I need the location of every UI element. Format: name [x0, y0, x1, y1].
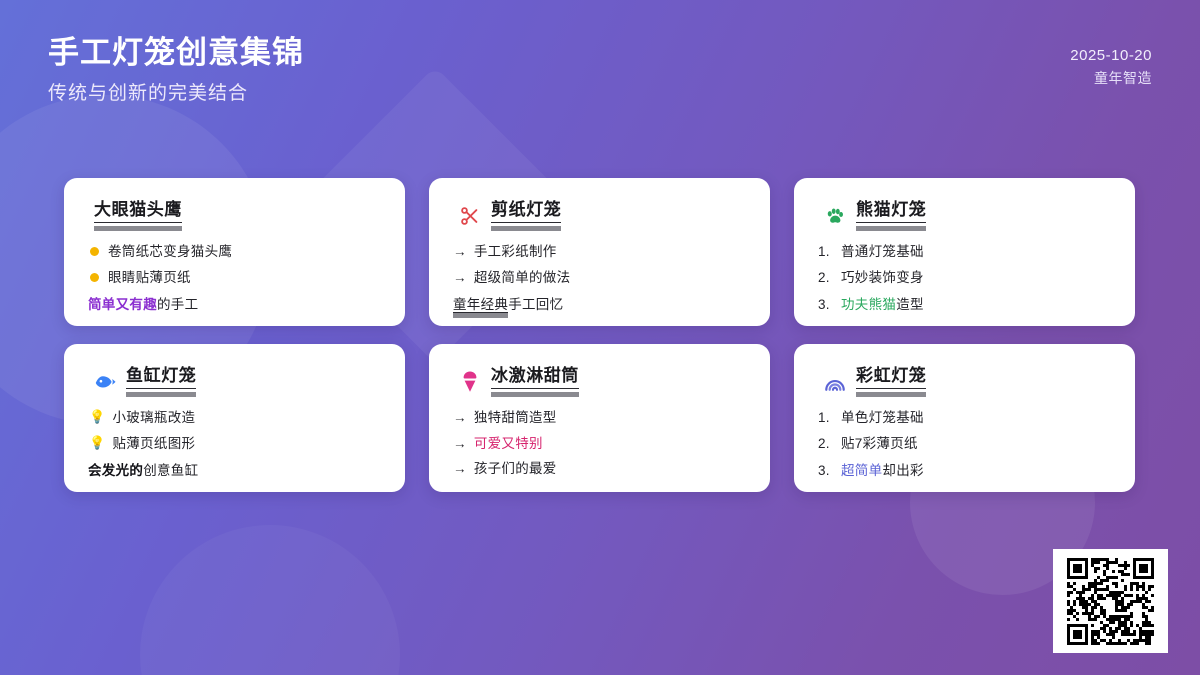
rainbow-icon: [824, 371, 846, 393]
card-title: 彩虹灯笼: [856, 366, 926, 389]
idea-card[interactable]: 大眼猫头鹰卷筒纸芯变身猫头鹰眼睛贴薄页纸简单又有趣的手工: [64, 178, 405, 326]
card-title-wrap: 冰激淋甜筒: [491, 366, 579, 397]
qr-code-image: [1067, 558, 1154, 645]
card-list: 1.普通灯笼基础2.巧妙装饰变身3.功夫熊猫造型: [818, 243, 1111, 314]
card-footnote: 简单又有趣的手工: [88, 296, 381, 314]
card-footnote: 3.超简单却出彩: [818, 462, 1111, 480]
list-item-text: 可爱又特别: [474, 435, 746, 453]
emphasis-text: 超简单: [841, 463, 882, 478]
bullet-dot-icon: [90, 273, 99, 282]
page-title: 手工灯笼创意集锦: [48, 34, 304, 73]
card-title-wrap: 大眼猫头鹰: [94, 200, 182, 231]
card-title-underline-bar: [856, 226, 926, 231]
list-number: 3.: [818, 296, 834, 314]
card-footnote-text: 会发光的创意鱼缸: [88, 462, 381, 480]
card-title: 冰激淋甜筒: [491, 366, 579, 389]
list-item-text: 卷筒纸芯变身猫头鹰: [108, 243, 381, 261]
card-title: 剪纸灯笼: [491, 200, 561, 223]
card-title-underline-bar: [126, 392, 196, 397]
arrow-marker-icon: →: [453, 435, 467, 453]
idea-card[interactable]: 彩虹灯笼1.单色灯笼基础2.贴7彩薄页纸3.超简单却出彩: [794, 344, 1135, 492]
card-title-wrap: 熊猫灯笼: [856, 200, 926, 231]
card-footnote: 3.功夫熊猫造型: [818, 296, 1111, 314]
list-item: 2.贴7彩薄页纸: [818, 435, 1111, 453]
list-item-text: 眼睛贴薄页纸: [108, 269, 381, 287]
emphasis-text: 会发光的: [88, 463, 143, 478]
card-footnote: 童年经典手工回忆: [453, 296, 746, 314]
slide-header: 手工灯笼创意集锦 传统与创新的完美结合 2025-10-20 童年智造: [0, 0, 1200, 106]
card-title-wrap: 剪纸灯笼: [491, 200, 561, 231]
arrow-marker-icon: →: [453, 460, 467, 478]
card-title: 鱼缸灯笼: [126, 366, 196, 389]
qr-code[interactable]: [1053, 549, 1168, 653]
card-header: 鱼缸灯笼: [88, 366, 381, 397]
emphasis-text: 童年经典: [453, 297, 508, 313]
idea-card[interactable]: 鱼缸灯笼💡小玻璃瓶改造💡贴薄页纸图形会发光的创意鱼缸: [64, 344, 405, 492]
title-block: 手工灯笼创意集锦 传统与创新的完美结合: [48, 34, 304, 106]
emphasis-text: 简单又有趣: [88, 297, 157, 312]
list-item-text: 贴薄页纸图形: [113, 435, 382, 453]
card-title: 大眼猫头鹰: [94, 200, 182, 223]
card-footnote-text: 功夫熊猫造型: [841, 296, 1111, 314]
card-list: →独特甜筒造型→可爱又特别→孩子们的最爱: [453, 409, 746, 478]
list-item-text: 普通灯笼基础: [841, 243, 1111, 261]
card-footnote-text: 简单又有趣的手工: [88, 296, 381, 314]
card-list: 卷筒纸芯变身猫头鹰眼睛贴薄页纸简单又有趣的手工: [88, 243, 381, 314]
card-footnote-text: 童年经典手工回忆: [453, 296, 746, 314]
list-item: 眼睛贴薄页纸: [88, 269, 381, 287]
bullet-dot-icon: [90, 247, 99, 256]
arrow-marker-icon: →: [453, 243, 467, 261]
list-item: 1.单色灯笼基础: [818, 409, 1111, 427]
lightbulb-icon: 💡: [89, 409, 106, 426]
card-footnote: 会发光的创意鱼缸: [88, 462, 381, 480]
emphasis-text: 可爱又特别: [474, 436, 543, 451]
card-title-underline-bar: [491, 226, 561, 231]
date-label: 2025-10-20: [1070, 44, 1152, 67]
card-title-underline-bar: [856, 392, 926, 397]
list-item-text: 巧妙装饰变身: [841, 269, 1111, 287]
card-title-wrap: 彩虹灯笼: [856, 366, 926, 397]
idea-card[interactable]: 剪纸灯笼→手工彩纸制作→超级简单的做法童年经典手工回忆: [429, 178, 770, 326]
list-number: 2.: [818, 269, 834, 287]
idea-card[interactable]: 冰激淋甜筒→独特甜筒造型→可爱又特别→孩子们的最爱: [429, 344, 770, 492]
brand-label: 童年智造: [1070, 67, 1152, 89]
list-item: →孩子们的最爱: [453, 460, 746, 478]
card-title-underline-bar: [491, 392, 579, 397]
list-item: 卷筒纸芯变身猫头鹰: [88, 243, 381, 261]
header-meta: 2025-10-20 童年智造: [1070, 34, 1152, 90]
card-title-underline-bar: [94, 226, 182, 231]
list-item-text: 超级简单的做法: [474, 269, 746, 287]
ice-cream-cone-icon: [459, 371, 481, 393]
page-subtitle: 传统与创新的完美结合: [48, 82, 304, 106]
emphasis-text: 功夫熊猫: [841, 297, 896, 312]
paw-print-icon: [824, 205, 846, 227]
card-title-wrap: 鱼缸灯笼: [126, 366, 196, 397]
card-list: 1.单色灯笼基础2.贴7彩薄页纸3.超简单却出彩: [818, 409, 1111, 480]
list-number: 1.: [818, 243, 834, 261]
list-item: →超级简单的做法: [453, 269, 746, 287]
arrow-marker-icon: →: [453, 409, 467, 427]
list-item: 2.巧妙装饰变身: [818, 269, 1111, 287]
list-number: 2.: [818, 435, 834, 453]
scissors-icon: [459, 205, 481, 227]
list-item-text: 小玻璃瓶改造: [113, 409, 382, 427]
lightbulb-icon: 💡: [89, 435, 106, 452]
card-header: 大眼猫头鹰: [88, 200, 381, 231]
list-number: 3.: [818, 462, 834, 480]
decorative-circle-bottom-left: [140, 525, 400, 675]
slide-root: 手工灯笼创意集锦 传统与创新的完美结合 2025-10-20 童年智造 大眼猫头…: [0, 0, 1200, 675]
list-item: →独特甜筒造型: [453, 409, 746, 427]
list-item-text: 孩子们的最爱: [474, 460, 746, 478]
card-grid: 大眼猫头鹰卷筒纸芯变身猫头鹰眼睛贴薄页纸简单又有趣的手工剪纸灯笼→手工彩纸制作→…: [64, 178, 1136, 492]
emphasis-underline-bar: [453, 313, 508, 318]
list-item-text: 贴7彩薄页纸: [841, 435, 1111, 453]
idea-card[interactable]: 熊猫灯笼1.普通灯笼基础2.巧妙装饰变身3.功夫熊猫造型: [794, 178, 1135, 326]
card-header: 熊猫灯笼: [818, 200, 1111, 231]
list-item: →手工彩纸制作: [453, 243, 746, 261]
list-item-text: 单色灯笼基础: [841, 409, 1111, 427]
list-number: 1.: [818, 409, 834, 427]
list-item: 💡小玻璃瓶改造: [88, 409, 381, 427]
list-item-text: 手工彩纸制作: [474, 243, 746, 261]
list-item: →可爱又特别: [453, 435, 746, 453]
card-list: 💡小玻璃瓶改造💡贴薄页纸图形会发光的创意鱼缸: [88, 409, 381, 480]
list-item: 💡贴薄页纸图形: [88, 435, 381, 453]
arrow-marker-icon: →: [453, 269, 467, 287]
card-header: 冰激淋甜筒: [453, 366, 746, 397]
card-list: →手工彩纸制作→超级简单的做法童年经典手工回忆: [453, 243, 746, 314]
card-footnote-text: 超简单却出彩: [841, 462, 1111, 480]
card-header: 剪纸灯笼: [453, 200, 746, 231]
fish-icon: [94, 371, 116, 393]
list-item-text: 独特甜筒造型: [474, 409, 746, 427]
card-header: 彩虹灯笼: [818, 366, 1111, 397]
list-item: 1.普通灯笼基础: [818, 243, 1111, 261]
card-title: 熊猫灯笼: [856, 200, 926, 223]
